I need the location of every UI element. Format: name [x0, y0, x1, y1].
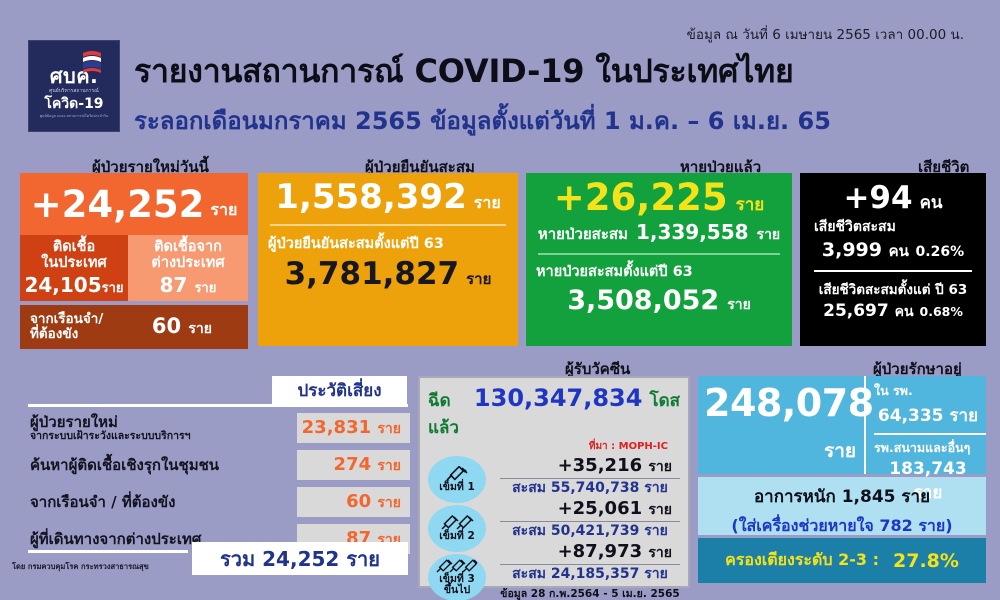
- vaccine-injected-label: ฉีดแล้ว: [428, 387, 467, 441]
- dose-2-accum: สะสม 50,421,739 ราย: [500, 523, 680, 540]
- deaths-value: +94: [843, 181, 912, 215]
- cumulative-divider: [270, 224, 506, 226]
- treatment-total-value: 248,078: [704, 384, 856, 422]
- logo-covid-text: โควิด-19: [44, 97, 103, 111]
- deaths-since-row: 25,697 คน 0.68%: [808, 301, 978, 323]
- recovered-divider: [538, 253, 780, 255]
- prison-unit: ราย: [188, 321, 212, 337]
- card-new-cases: +24,252 ราย ติดเชื้อ ในประเทศ 24,105ราย …: [20, 173, 248, 349]
- card-vaccine: ฉีดแล้ว 130,347,834 โดส ที่มา : MOPH-IC: [418, 376, 690, 588]
- risk-history-rule: [28, 404, 408, 407]
- risk-history-header-label: ประวัติเสี่ยง: [297, 377, 381, 404]
- ccsa-logo: ศบค. ศูนย์บริหารสถานการณ์ โควิด-19 ศูนย์…: [28, 40, 120, 132]
- risk-history-header: ประวัติเสี่ยง: [272, 376, 407, 404]
- risk-row: ผู้ป่วยรายใหม่ จากระบบเฝ้าระวังและระบบบร…: [20, 410, 410, 447]
- vaccine-dose-row: +25,061 ราย สะสม 50,421,739 ราย: [500, 499, 680, 540]
- deaths-cumulative-label: เสียชีวิตสะสม: [808, 216, 978, 238]
- footer-credit: โดย กรมควบคุมโรค กระทรวงสาธารณสุข: [12, 561, 149, 573]
- risk-row-sublabel: จากระบบเฝ้าระวังและระบบบริการฯ: [30, 431, 191, 442]
- bed-occupancy-label: ครองเตียงระดับ 2-3 :: [725, 548, 879, 573]
- page-title: รายงานสถานการณ์ COVID-19 ในประเทศไทย: [134, 46, 794, 97]
- ventilator-label: (ใส่เครื่องช่วยหายใจ: [731, 516, 873, 535]
- severe-value: 1,845 ราย: [842, 487, 930, 507]
- dose-3-new-unit: ราย: [648, 545, 672, 561]
- vaccine-source-label: ที่มา : MOPH-IC: [428, 439, 680, 454]
- severe-label: อาการหนัก: [754, 487, 836, 507]
- card-deaths: +94 คน เสียชีวิตสะสม 3,999 คน 0.26% เสีย…: [800, 173, 986, 346]
- deaths-divider: [814, 270, 972, 272]
- recovered-since-value: 3,508,052: [567, 285, 719, 316]
- risk-row-label: ผู้ป่วยรายใหม่: [30, 413, 118, 431]
- imported-label-line2: ต่างประเทศ: [128, 255, 248, 271]
- risk-row-label: ผู้ที่เดินทางจากต่างประเทศ: [30, 530, 201, 548]
- risk-row: จากเรือนจำ / ที่ต้องขัง 60 ราย: [20, 484, 410, 521]
- dose-2-new-unit: ราย: [648, 502, 672, 518]
- dose-1-badge: เข็มที่ 1: [428, 456, 486, 503]
- dose-3-accum: สะสม 24,185,357 ราย: [500, 566, 680, 583]
- risk-row-unit: ราย: [377, 495, 401, 511]
- dose-3-label-2: ขึ้นไป: [444, 585, 470, 596]
- dose-1-label: เข็มที่ 1: [439, 482, 475, 493]
- vaccine-injected-value: 130,347,834: [474, 384, 643, 412]
- risk-row-value: 23,831: [302, 417, 371, 438]
- recovered-headline: +26,225 ราย: [536, 178, 782, 219]
- deaths-since-pct: 0.68%: [920, 304, 963, 319]
- recovered-value: +26,225: [554, 178, 728, 219]
- risk-total-label: รวม 24,252 ราย: [220, 543, 380, 575]
- logo-sub-text: ศูนย์บริหารสถานการณ์: [49, 88, 99, 94]
- logo-tiny-text: ศูนย์ข้อมูล แถลง สถานการณ์โควิดประจำวัน: [40, 114, 109, 118]
- deaths-since-label: เสียชีวิตสะสมตั้งแต่ ปี 63: [808, 278, 978, 300]
- recovered-since-unit: ราย: [727, 294, 751, 316]
- risk-total-rule: [28, 550, 188, 553]
- prison-label-line2: ที่ต้องขัง: [30, 327, 103, 342]
- treatment-total-unit: ราย: [704, 436, 856, 466]
- deaths-since-unit: คน: [895, 304, 914, 320]
- imported-label-line1: ติดเชื้อจาก: [128, 239, 248, 255]
- domestic-value: 24,105: [24, 273, 101, 297]
- recovered-cumulative-label: หายป่วยสะสม: [538, 222, 628, 246]
- cumulative-since-row: 3,781,827 ราย: [268, 259, 508, 291]
- recovered-since-row: 3,508,052 ราย: [536, 285, 782, 316]
- dose-row-divider: [500, 478, 680, 480]
- imported-value: 87: [160, 273, 188, 297]
- cumulative-since-value: 3,781,827: [285, 259, 460, 290]
- prison-cases-block: จากเรือนจำ/ ที่ต้องขัง 60 ราย: [20, 305, 248, 349]
- recovered-cumulative-row: หายป่วยสะสม 1,339,558 ราย: [536, 220, 782, 246]
- infographic-root: ศบค. ศูนย์บริหารสถานการณ์ โควิด-19 ศูนย์…: [0, 0, 1000, 600]
- bed-occupancy-value: 27.8%: [893, 550, 959, 572]
- dose-1-new-value: +35,216: [558, 455, 643, 476]
- domestic-value-row: 24,105ราย: [20, 275, 128, 295]
- risk-row-unit: ราย: [377, 458, 401, 474]
- new-cases-unit: ราย: [210, 186, 237, 223]
- card-recovered: +26,225 ราย หายป่วยสะสม 1,339,558 ราย หา…: [526, 173, 792, 346]
- dose-2-new-value: +25,061: [558, 498, 643, 519]
- risk-row-value-pill: 23,831 ราย: [297, 413, 410, 443]
- deaths-cumulative-value: 3,999: [822, 239, 882, 261]
- cumulative-unit: ราย: [474, 191, 501, 216]
- ventilator-value: 782 ราย): [879, 516, 952, 535]
- vaccine-dose-row: +87,973 ราย สะสม 24,185,357 ราย: [500, 542, 680, 583]
- deaths-unit: คน: [920, 189, 943, 216]
- risk-row-value-pill: 60 ราย: [297, 487, 410, 517]
- risk-row-value: 274: [334, 454, 372, 475]
- domestic-unit: ราย: [102, 281, 124, 296]
- new-cases-value: +24,252: [31, 186, 205, 223]
- prison-value: 60: [152, 314, 181, 338]
- imported-unit: ราย: [194, 281, 216, 296]
- vaccine-dose-row: +35,216 ราย สะสม 55,740,738 ราย: [500, 456, 680, 497]
- prison-label-line1: จากเรือนจำ/: [30, 312, 103, 327]
- risk-row-value: 60: [346, 491, 371, 512]
- deaths-cumulative-pct: 0.26%: [916, 244, 965, 260]
- risk-row-unit: ราย: [377, 421, 401, 437]
- dose-2-badge: เข็มที่ 2: [428, 505, 486, 552]
- vaccine-injected-unit: โดส: [649, 387, 680, 414]
- risk-row: ค้นหาผู้ติดเชื้อเชิงรุกในชุมชน 274 ราย: [20, 447, 410, 484]
- recovered-since-label: หายป่วยสะสมตั้งแต่ปี 63: [536, 260, 782, 283]
- risk-row-label: จากเรือนจำ / ที่ต้องขัง: [30, 493, 175, 511]
- page-subtitle: ระลอกเดือนมกราคม 2565 ข้อมูลตั้งแต่วันที…: [134, 101, 831, 140]
- treatment-field-label: รพ.สนามและอื่นๆ: [874, 438, 986, 458]
- cumulative-headline: 1,558,392 ราย: [268, 179, 508, 216]
- dose-row-divider: [500, 564, 680, 566]
- as-of-timestamp: ข้อมูล ณ วันที่ 6 เมษายน 2565 เวลา 00.00…: [687, 23, 964, 45]
- imported-cases-block: ติดเชื้อจาก ต่างประเทศ 87 ราย: [128, 235, 248, 301]
- dose-row-divider: [500, 521, 680, 523]
- card-cumulative-confirmed: 1,558,392 ราย ผู้ป่วยยืนยันสะสมตั้งแต่ปี…: [258, 173, 518, 346]
- domestic-cases-block: ติดเชื้อ ในประเทศ 24,105ราย: [20, 235, 128, 301]
- domestic-label-line1: ติดเชื้อ: [20, 239, 128, 255]
- vaccine-dose-icons: เข็มที่ 1 เข็มที่ 2: [428, 456, 494, 600]
- card-treatment: 248,078 ราย ใน รพ. 64,335 ราย รพ.สนามและ…: [698, 376, 986, 588]
- deaths-cumulative-row: 3,999 คน 0.26%: [808, 239, 978, 263]
- cumulative-since-label: ผู้ป่วยยืนยันสะสมตั้งแต่ปี 63: [268, 232, 508, 255]
- dose-1-accum: สะสม 55,740,738 ราย: [500, 480, 680, 497]
- dose-1-new-unit: ราย: [648, 459, 672, 475]
- deaths-since-value: 25,697: [823, 301, 889, 321]
- vaccine-date-note: ข้อมูล 28 ก.พ.2564 - 5 เม.ย. 2565: [500, 585, 680, 600]
- recovered-unit: ราย: [736, 191, 765, 218]
- dose-3-new-value: +87,973: [558, 541, 643, 562]
- treatment-total-block: 248,078 ราย ใน รพ. 64,335 ราย รพ.สนามและ…: [698, 376, 986, 474]
- domestic-label-line2: ในประเทศ: [20, 255, 128, 271]
- risk-history-list: ผู้ป่วยรายใหม่ จากระบบเฝ้าระวังและระบบบร…: [20, 410, 410, 558]
- cumulative-since-unit: ราย: [466, 267, 491, 291]
- treatment-inner-divider: [874, 433, 986, 435]
- deaths-headline: +94 คน: [808, 181, 978, 216]
- treatment-hospital-value: 64,335 ราย: [874, 402, 986, 429]
- risk-row-label: ค้นหาผู้ติดเชื้อเชิงรุกในชุมชน: [30, 456, 219, 474]
- vaccine-dose-rows: +35,216 ราย สะสม 55,740,738 ราย +25,061 …: [500, 456, 680, 600]
- imported-value-row: 87 ราย: [128, 275, 248, 295]
- new-cases-headline: +24,252 ราย: [20, 173, 248, 235]
- recovered-cumulative-value: 1,339,558: [636, 220, 749, 244]
- risk-row-value-pill: 274 ราย: [297, 450, 410, 480]
- risk-total-banner: รวม 24,252 ราย: [192, 542, 408, 575]
- dose-3-badge: เข็มที่ 3 ขึ้นไป: [428, 554, 486, 600]
- treatment-bed-occupancy-block: ครองเตียงระดับ 2-3 : 27.8%: [698, 538, 986, 583]
- deaths-cumulative-unit: คน: [889, 242, 909, 260]
- new-cases-breakdown: ติดเชื้อ ในประเทศ 24,105ราย ติดเชื้อจาก …: [20, 235, 248, 301]
- recovered-cumulative-unit: ราย: [757, 224, 781, 246]
- prison-label: จากเรือนจำ/ ที่ต้องขัง: [30, 312, 103, 342]
- prison-value-row: 60 ราย: [152, 314, 238, 340]
- vaccine-headline: ฉีดแล้ว 130,347,834 โดส: [428, 384, 680, 441]
- cumulative-value: 1,558,392: [275, 179, 466, 216]
- thai-flag-ribbon-icon: [81, 49, 103, 75]
- treatment-hospital-label: ใน รพ.: [874, 381, 986, 401]
- dose-2-label: เข็มที่ 2: [439, 531, 475, 542]
